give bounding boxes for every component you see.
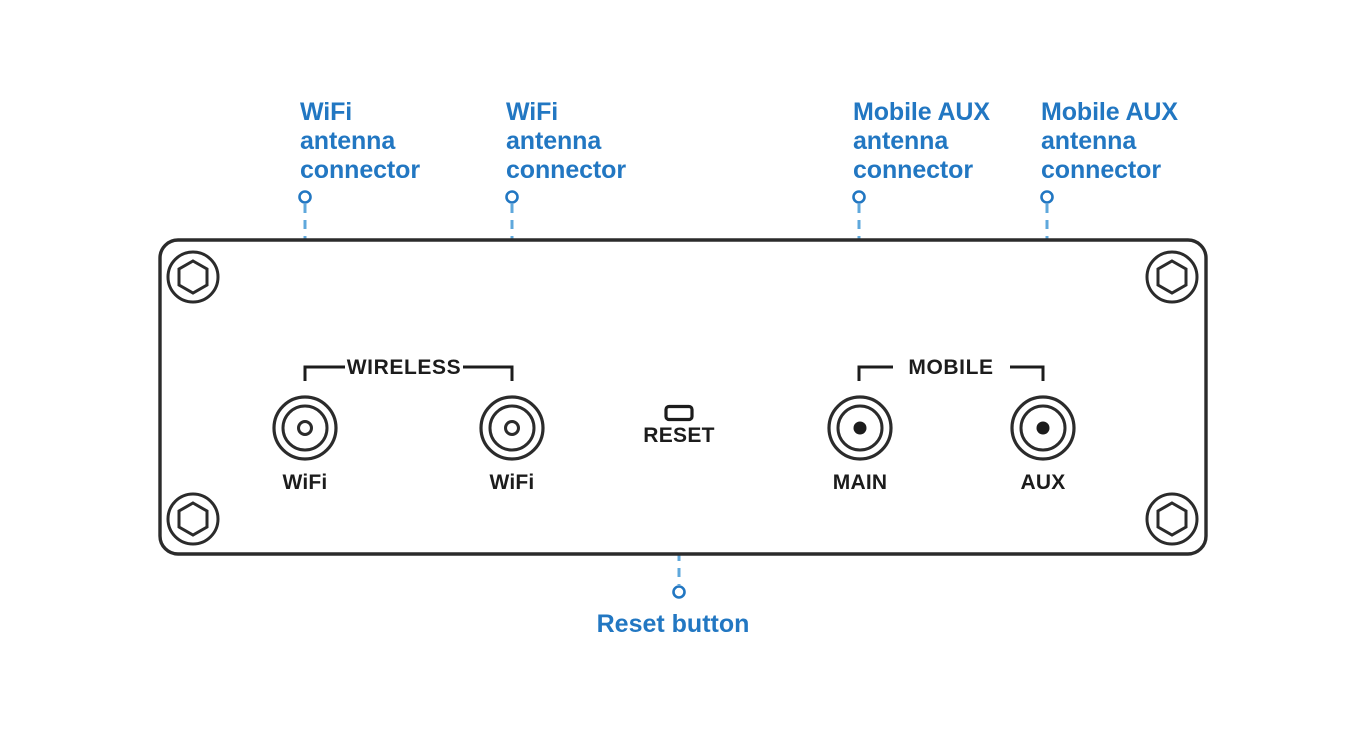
marker-icon-mobile-main: [854, 192, 865, 203]
port-label-reset: RESET: [643, 424, 715, 448]
connector-mobile-aux[interactable]: [1012, 397, 1074, 459]
port-label-main: MAIN: [833, 471, 887, 495]
hex-socket-icon: [1158, 503, 1186, 535]
callout-label-mobile-aux-antenna-connector-2: Mobile AUX antenna connector: [1041, 98, 1178, 185]
marker-icon-wifi-2: [507, 192, 518, 203]
connector-mobile-main[interactable]: [829, 397, 891, 459]
marker-icon-reset: [674, 587, 685, 598]
connector-wifi-2[interactable]: [481, 397, 543, 459]
screw-top-left: [168, 252, 218, 302]
callout-label-reset-button: Reset button: [597, 610, 750, 639]
callout-label-wifi-antenna-connector-2: WiFi antenna connector: [506, 98, 626, 185]
screw-bottom-left: [168, 494, 218, 544]
group-label-mobile: MOBILE: [908, 356, 993, 380]
callout-label-mobile-aux-antenna-connector-1: Mobile AUX antenna connector: [853, 98, 990, 185]
hex-socket-icon: [179, 503, 207, 535]
marker-icon-wifi-1: [300, 192, 311, 203]
diagram-canvas: WiFi antenna connector WiFi antenna conn…: [0, 0, 1370, 756]
port-label-wifi-2: WiFi: [490, 471, 535, 495]
reset-button-slot[interactable]: [666, 407, 692, 420]
hex-socket-icon: [1158, 261, 1186, 293]
port-label-aux: AUX: [1021, 471, 1066, 495]
connector-wifi-1[interactable]: [274, 397, 336, 459]
marker-icon-mobile-aux: [1042, 192, 1053, 203]
group-label-wireless: WIRELESS: [347, 356, 461, 380]
screw-top-right: [1147, 252, 1197, 302]
port-label-wifi-1: WiFi: [283, 471, 328, 495]
callout-label-wifi-antenna-connector-1: WiFi antenna connector: [300, 98, 420, 185]
hex-socket-icon: [179, 261, 207, 293]
screw-bottom-right: [1147, 494, 1197, 544]
